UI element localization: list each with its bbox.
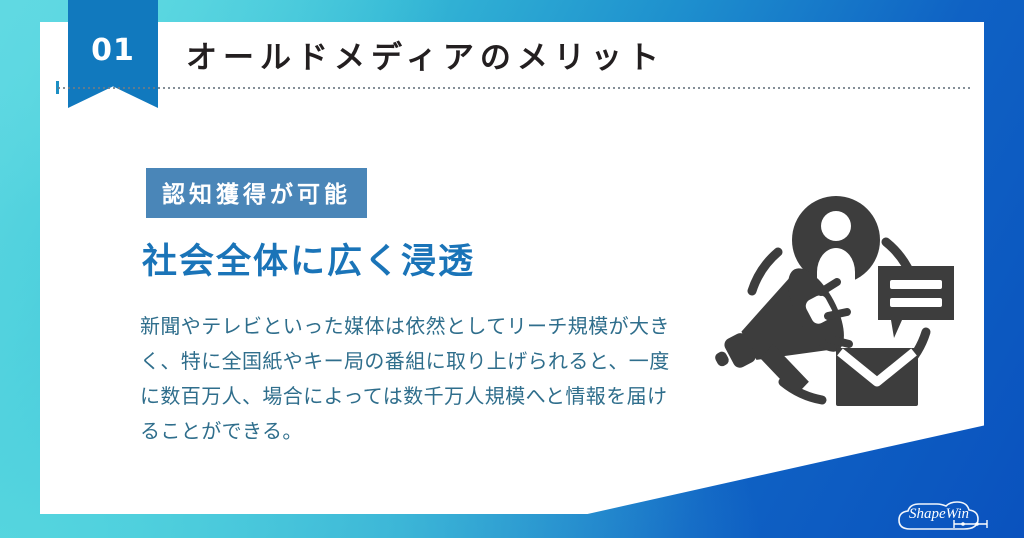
shapewin-logo: ShapeWin: [897, 494, 1001, 534]
page-title: オールドメディアのメリット: [186, 32, 665, 77]
logo-text: ShapeWin: [909, 506, 969, 522]
slide-root: 01 オールドメディアのメリット 認知獲得が可能 社会全体に広く浸透 新聞やテレ…: [0, 0, 1024, 538]
body-paragraph: 新聞やテレビといった媒体は依然としてリーチ規模が大きく、特に全国紙やキー局の番組…: [140, 310, 678, 450]
envelope-icon: [836, 348, 918, 406]
status-badge: 認知獲得が可能: [146, 168, 367, 218]
section-subheading: 社会全体に広く浸透: [142, 233, 475, 284]
header-dotted-divider: [58, 87, 970, 89]
speech-bubble-icon: [878, 266, 954, 338]
communication-illustration: [690, 186, 960, 422]
section-number: 01: [91, 33, 135, 68]
arc-top-left: [752, 252, 778, 291]
